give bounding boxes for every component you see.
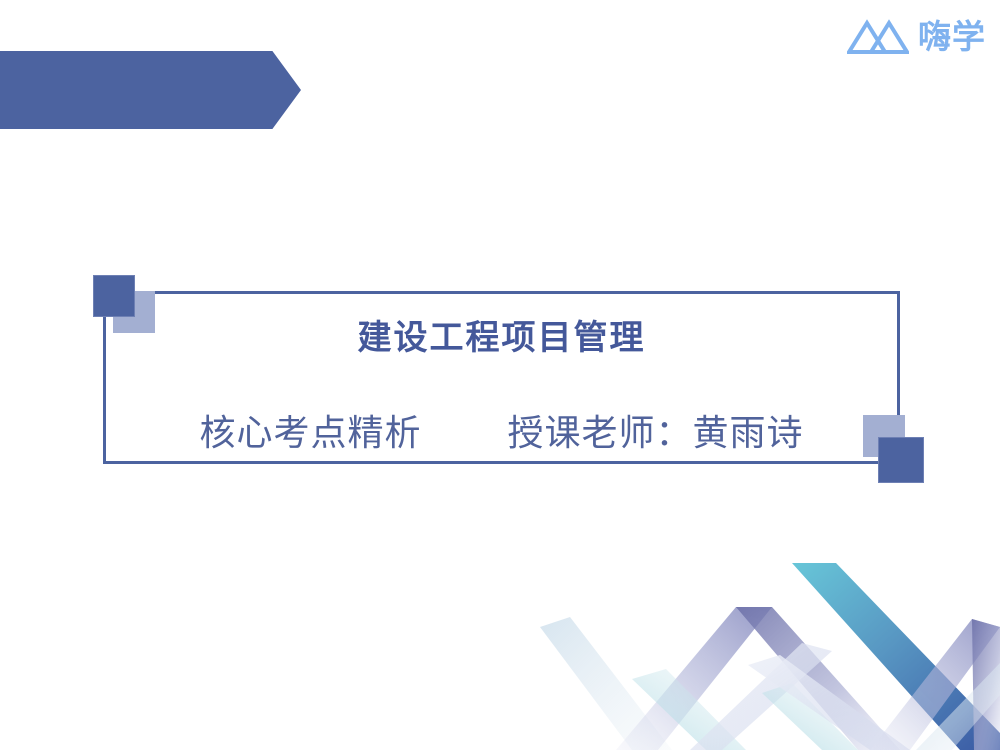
double-mountain-icon	[847, 17, 909, 55]
corner-square-top-left-dark	[93, 275, 135, 317]
subtitle-topic: 核心考点精析	[199, 404, 421, 456]
slide-title: 建设工程项目管理	[103, 320, 900, 357]
slide-subtitle-row: 核心考点精析 授课老师：黄雨诗	[103, 404, 900, 456]
brand-logo: 嗨学	[847, 12, 986, 60]
arrow-banner	[0, 51, 301, 129]
brand-name: 嗨学	[918, 20, 986, 53]
subtitle-instructor: 授课老师：黄雨诗	[508, 404, 804, 456]
abstract-chevron-ribbons	[540, 555, 1000, 750]
slide-canvas: 嗨学 建设工程项目管理 核心考点精析 授课老师：黄雨诗	[0, 0, 1000, 750]
